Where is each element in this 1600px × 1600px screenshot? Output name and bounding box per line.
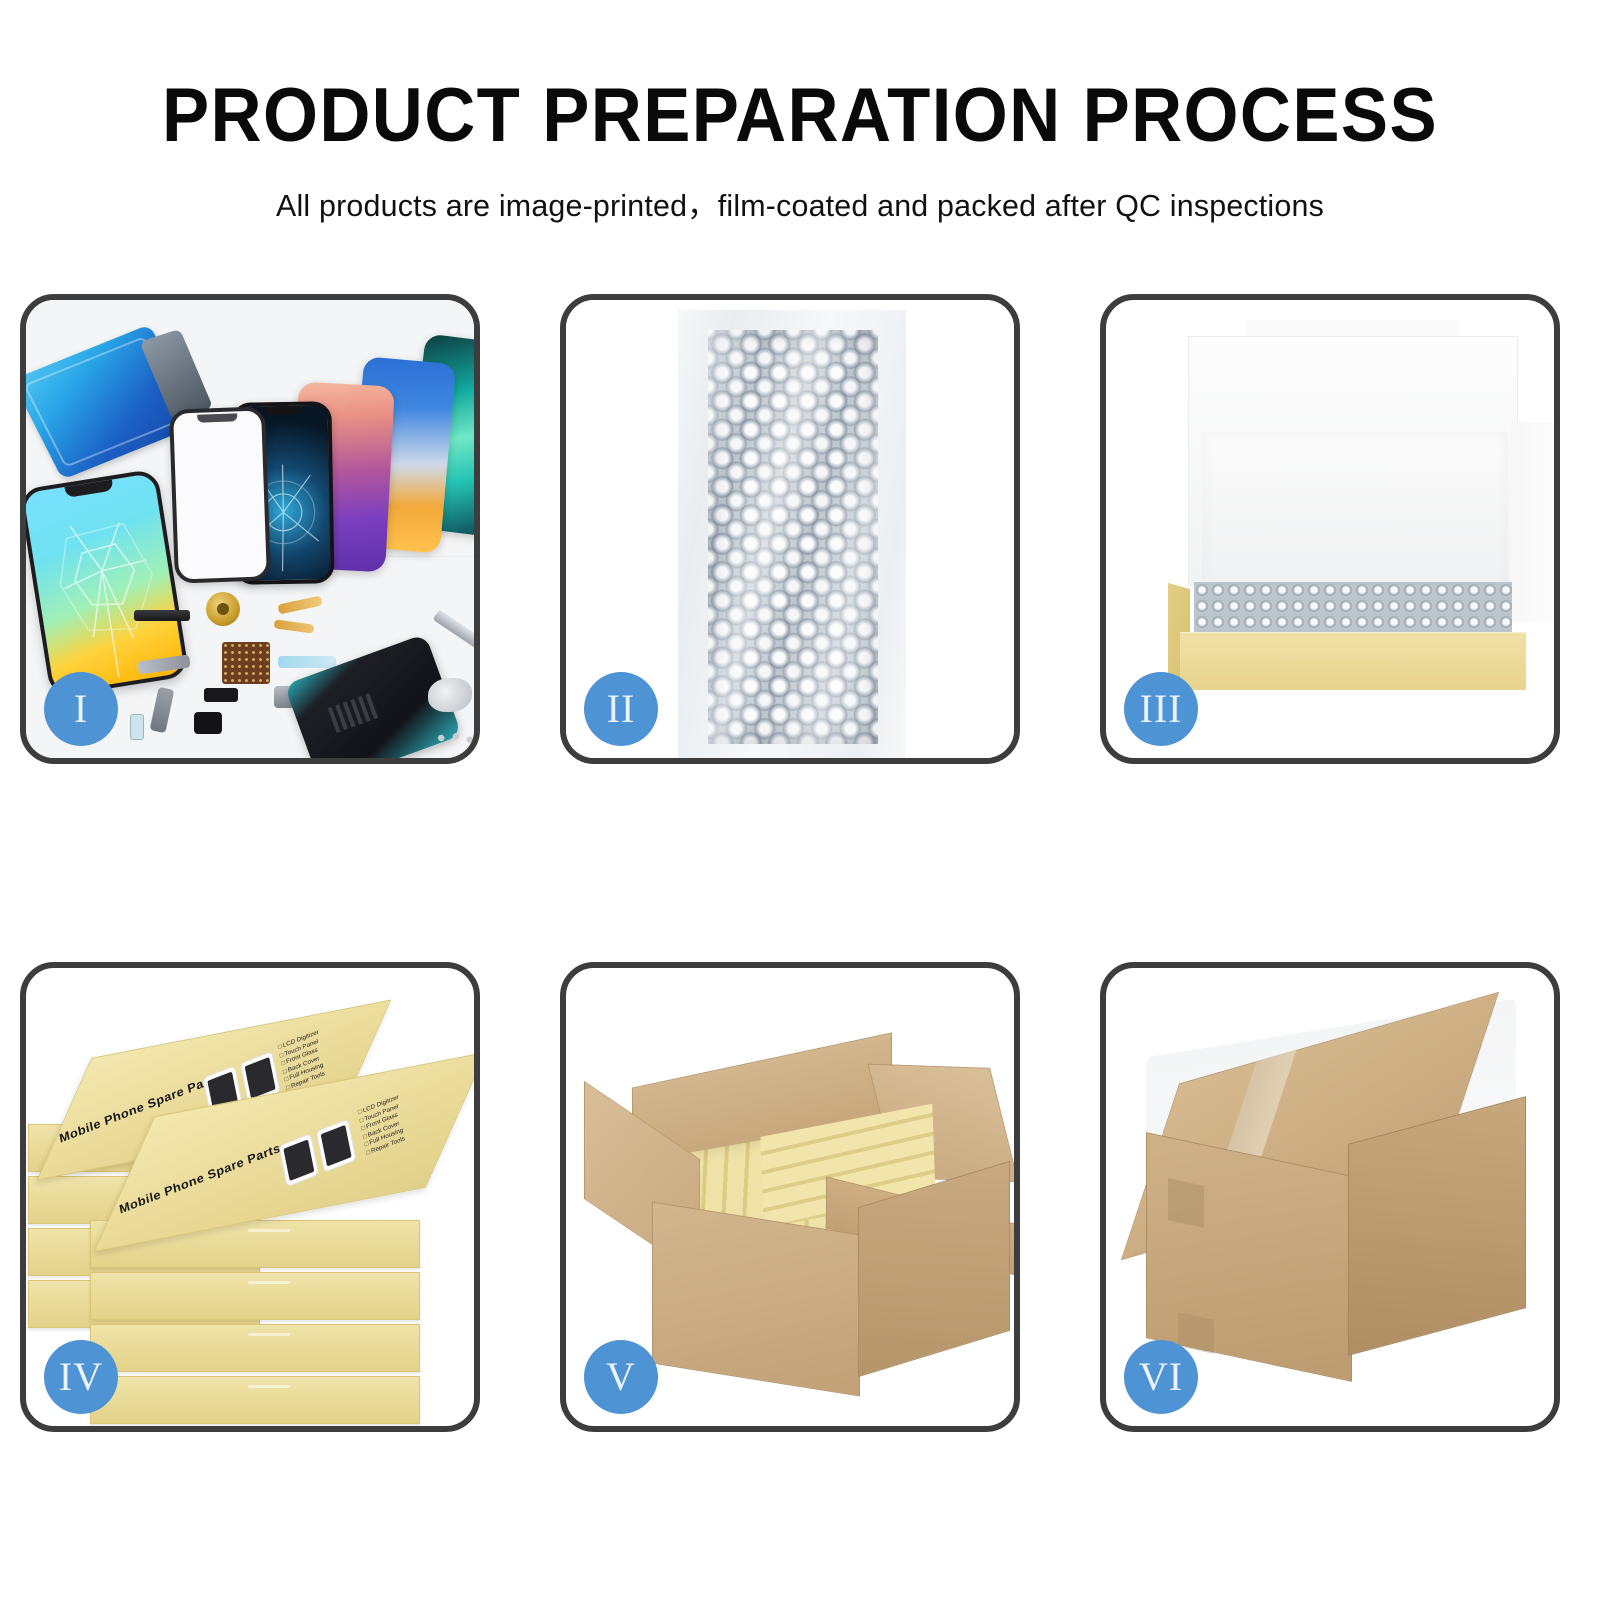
process-steps-grid: I II III (20, 294, 1580, 1444)
phone-thumbnail (316, 1119, 357, 1173)
screws-part (432, 730, 474, 746)
header: PRODUCT PREPARATION PROCESS All products… (0, 0, 1600, 225)
phone-thumbnail (278, 1133, 319, 1187)
step-badge-6: VI (1124, 1340, 1198, 1414)
step-panel-3: III (1100, 294, 1560, 764)
step-panel-2: II (560, 294, 1020, 764)
cleaning-brush-tool-icon (428, 678, 472, 712)
step-badge-2: II (584, 672, 658, 746)
speaker-module-part (134, 610, 190, 621)
carton-tape-tab (1168, 1178, 1204, 1228)
step-panel-1: I (20, 294, 480, 764)
foam-insert (1202, 432, 1508, 592)
box-right-wall (1510, 422, 1554, 622)
step-panel-5: V (560, 962, 1020, 1432)
retail-box-edge (90, 1324, 420, 1372)
brand-label: Mobile Phone Spare Parts (118, 1141, 281, 1217)
retail-box-edge (90, 1272, 420, 1320)
step-badge-3: III (1124, 672, 1198, 746)
carton-front-panel (652, 1202, 860, 1397)
step-badge-4: IV (44, 1340, 118, 1414)
step-panel-4: Mobile Phone Spare Parts LCD Digitizer T… (20, 962, 480, 1432)
retail-box-edge (90, 1376, 420, 1424)
product-preparation-infographic: PRODUCT PREPARATION PROCESS All products… (0, 0, 1600, 1600)
button-module-part (194, 712, 222, 734)
plastic-gloss-highlight (708, 330, 878, 744)
bubble-wrapped-item-inside-box (1194, 582, 1512, 636)
flex-cable-part (278, 656, 336, 668)
tempered-glass-protector (169, 406, 271, 583)
step-badge-5: V (584, 1340, 658, 1414)
page-subtitle: All products are image-printed，film-coat… (16, 180, 1584, 225)
step-badge-1: I (44, 672, 118, 746)
step-panel-6: VI (1100, 962, 1560, 1432)
box-front-panel (1180, 632, 1526, 690)
sim-tray-part (130, 714, 144, 740)
ic-chip-part (222, 642, 270, 684)
capacitor-part (204, 688, 238, 702)
contents-checklist-lower: LCD Digitizer Touch Panel Front Glass Ba… (357, 1094, 408, 1159)
wireless-charging-coil-part (206, 592, 240, 626)
page-title: PRODUCT PREPARATION PROCESS (56, 78, 1544, 154)
product-thumbnails (278, 1119, 356, 1188)
